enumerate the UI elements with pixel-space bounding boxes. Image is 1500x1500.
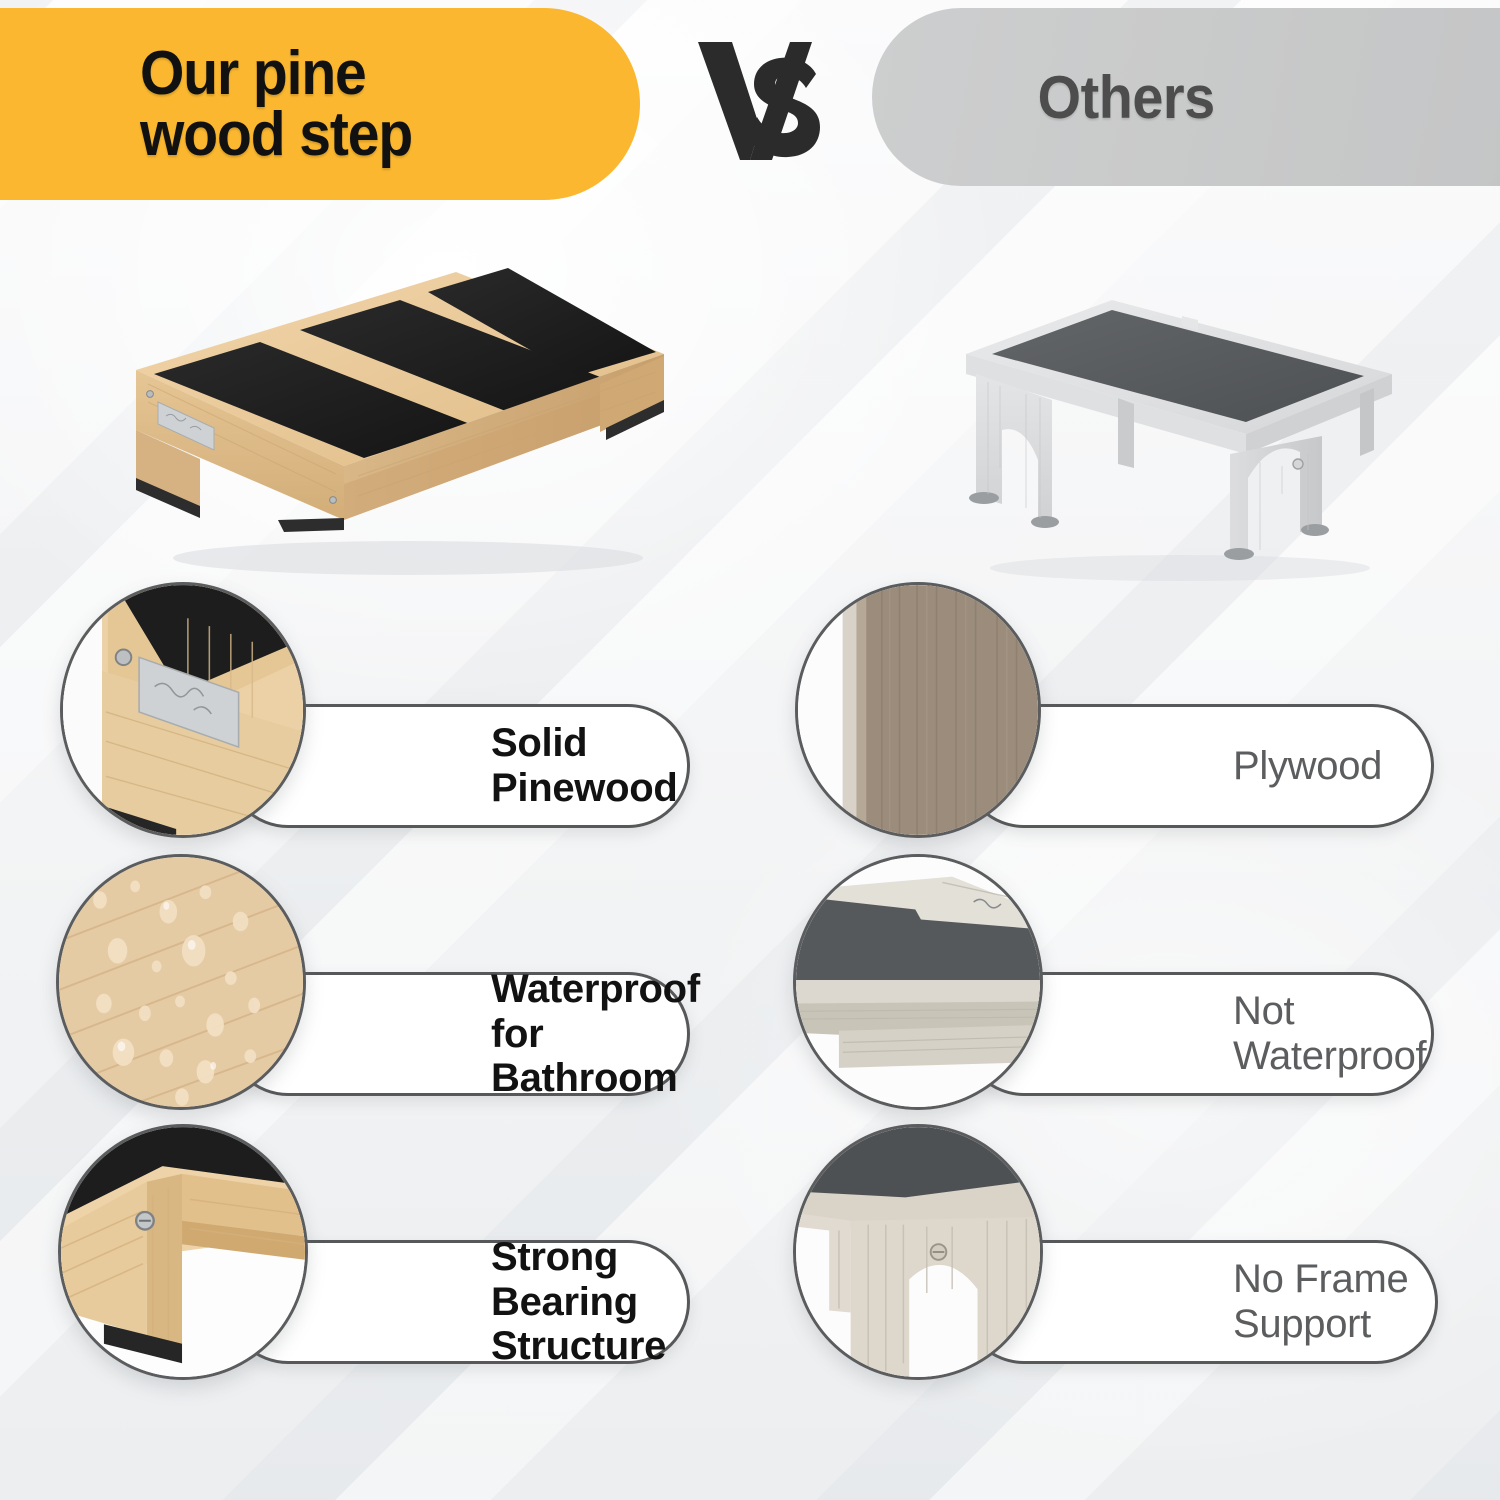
pill-no-frame-support-label: No Frame Support bbox=[1233, 1257, 1409, 1347]
thumb-not-waterproof bbox=[793, 854, 1043, 1110]
versus-icon bbox=[694, 32, 826, 168]
thumb-waterproof-for-bathroom bbox=[56, 854, 306, 1110]
thumb-plywood bbox=[795, 582, 1041, 838]
comparison-infographic: Our pine wood step Others bbox=[0, 0, 1500, 1500]
others-banner: Others bbox=[872, 8, 1500, 186]
pill-not-waterproof-label: Not Waterproof bbox=[1233, 989, 1426, 1079]
hero-image-others-stool bbox=[930, 282, 1430, 582]
our-product-banner: Our pine wood step bbox=[0, 8, 640, 200]
pill-strong-bearing-structure-label: Strong Bearing Structure bbox=[491, 1235, 666, 1369]
our-product-banner-label: Our pine wood step bbox=[140, 43, 412, 166]
hero-image-our-stool bbox=[108, 252, 688, 582]
others-banner-label: Others bbox=[1037, 63, 1214, 132]
thumb-solid-pinewood bbox=[60, 582, 306, 838]
pill-waterproof-for-bathroom-label: Waterproof for Bathroom bbox=[491, 967, 700, 1101]
pill-solid-pinewood-label: Solid Pinewood bbox=[491, 721, 677, 811]
pill-plywood-label: Plywood bbox=[1233, 744, 1382, 789]
thumb-strong-bearing-structure bbox=[58, 1124, 308, 1380]
thumb-no-frame-support bbox=[793, 1124, 1043, 1380]
